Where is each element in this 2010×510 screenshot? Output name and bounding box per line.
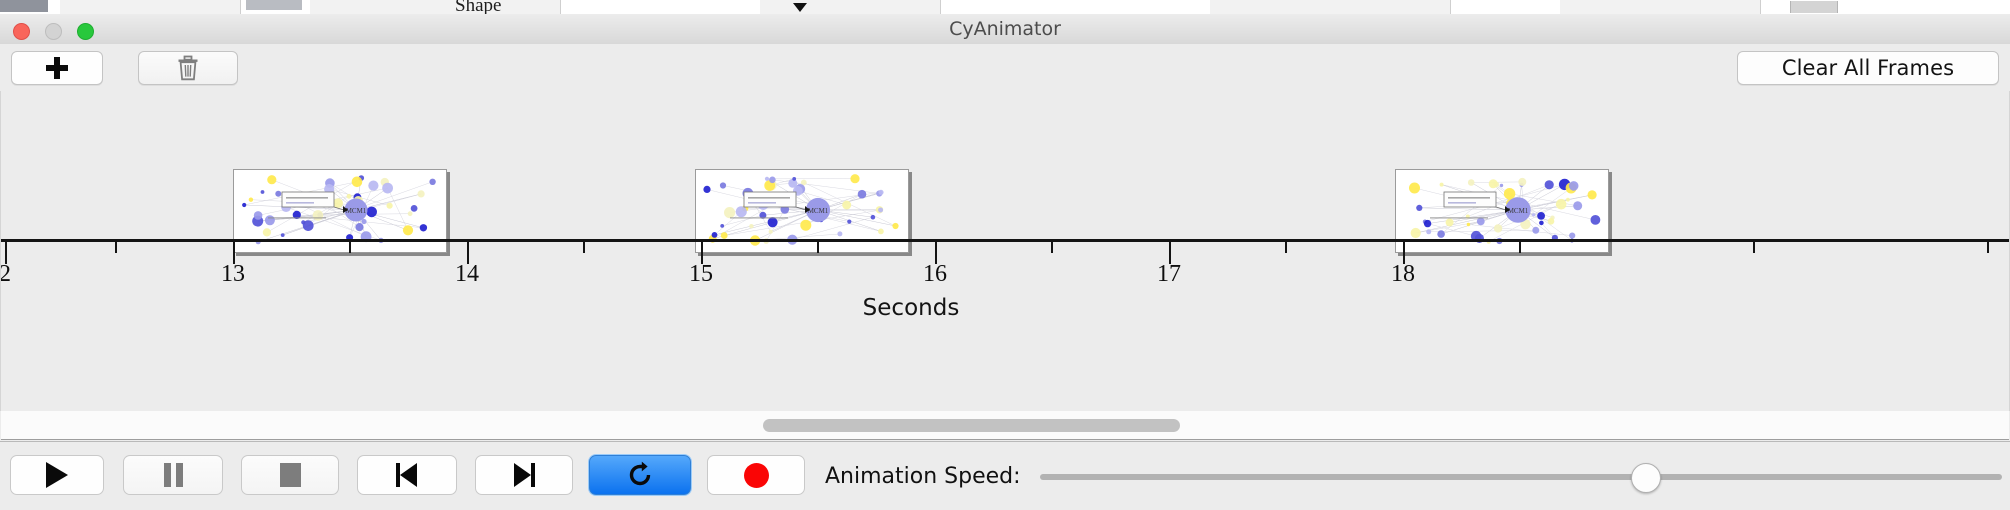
svg-text:MCM1: MCM1 — [346, 207, 367, 215]
last-frame-button[interactable] — [475, 455, 573, 495]
record-button[interactable] — [707, 455, 805, 495]
timeline-tick-minor — [1051, 242, 1053, 253]
clear-all-frames-button[interactable]: Clear All Frames — [1737, 51, 1999, 85]
timeline-tick-minor — [1519, 242, 1521, 253]
timeline-panel[interactable]: MCM1MCM1MCM1 2131415161718 Seconds — [0, 91, 2010, 411]
clear-all-frames-label: Clear All Frames — [1782, 56, 1954, 80]
add-frame-button[interactable] — [11, 51, 103, 85]
skip-to-end-icon — [513, 463, 535, 487]
timeline-axis-title: Seconds — [863, 295, 960, 321]
stop-icon — [280, 463, 301, 487]
timeline-tick-minor — [1753, 242, 1755, 253]
background-panel — [60, 0, 241, 14]
timeline-tick-label: 15 — [689, 261, 713, 288]
svg-text:MCM1: MCM1 — [1508, 207, 1529, 215]
timeline-tick-label: 18 — [1391, 261, 1415, 288]
play-button[interactable] — [10, 455, 104, 495]
background-panel — [760, 0, 941, 14]
play-icon — [46, 462, 68, 488]
timeline-tick-label: 16 — [923, 261, 947, 288]
timeline-tick-minor — [1285, 242, 1287, 253]
page-title: CyAnimator — [0, 14, 2010, 44]
timeline-scrollbar-thumb[interactable] — [763, 419, 1180, 432]
animation-speed-slider-knob[interactable] — [1631, 463, 1661, 493]
animation-speed-label: Animation Speed: — [825, 442, 1021, 510]
trash-icon — [177, 55, 199, 81]
background-panel — [1560, 0, 1761, 14]
animation-speed-slider[interactable] — [1040, 474, 2002, 480]
delete-frame-button[interactable] — [138, 51, 238, 85]
playback-controls: Animation Speed: — [0, 441, 2010, 510]
timeline-tick-minor — [115, 242, 117, 253]
timeline-tick-minor — [1987, 242, 1989, 253]
background-toolbar-dark — [0, 0, 48, 12]
background-panel — [1210, 0, 1451, 14]
stop-button[interactable] — [241, 455, 339, 495]
background-panel — [310, 0, 561, 14]
timeline-tick-minor — [817, 242, 819, 253]
timeline-tick-minor — [349, 242, 351, 253]
pause-button[interactable] — [123, 455, 223, 495]
svg-text:MCM1: MCM1 — [808, 207, 829, 215]
background-label-shape: Shape — [455, 0, 501, 14]
cyanimator-window: Shape CyAnimator Clear All Frames — [0, 0, 2010, 510]
frame-toolbar: Clear All Frames — [0, 44, 2010, 92]
timeline-axis-line — [1, 239, 2010, 242]
background-caret-icon — [793, 3, 807, 12]
timeline-tick-label: 13 — [221, 261, 245, 288]
background-grip — [1790, 1, 1838, 13]
background-toolbar-dark-2 — [246, 0, 302, 10]
skip-to-start-icon — [396, 463, 418, 487]
timeline-tick-label: 14 — [455, 261, 479, 288]
timeline-tick-label: 17 — [1157, 261, 1181, 288]
plus-icon — [46, 57, 68, 79]
timeline-tick-minor — [583, 242, 585, 253]
loop-button[interactable] — [589, 455, 691, 495]
record-icon — [744, 463, 769, 488]
title-bar: CyAnimator — [0, 14, 2010, 45]
first-frame-button[interactable] — [357, 455, 457, 495]
background-app-strip: Shape — [0, 0, 2010, 14]
pause-icon — [164, 463, 183, 487]
timeline-tick-label: 2 — [0, 261, 11, 288]
loop-icon — [625, 460, 655, 490]
